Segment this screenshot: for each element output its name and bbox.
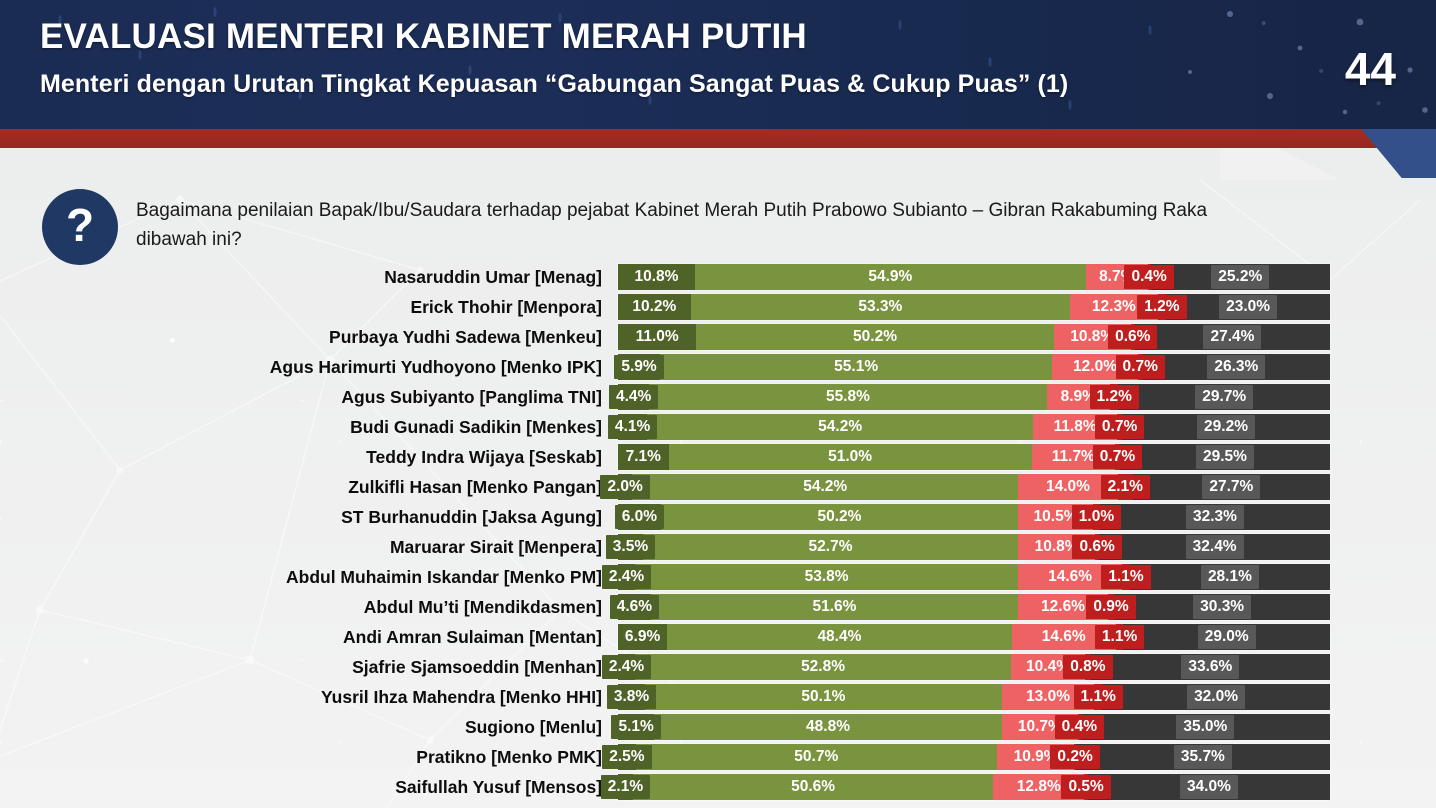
bar-segment-value: 0.8% bbox=[1063, 655, 1112, 679]
chart-row-label: Nasaruddin Umar [Menag] bbox=[150, 264, 602, 290]
bar-segment-tidak-tahu-tidak-jawab: 26.3% bbox=[1143, 354, 1330, 380]
chart-row-label: Teddy Indra Wijaya [Seskab] bbox=[150, 444, 602, 470]
bar-segment-value: 0.6% bbox=[1072, 535, 1121, 559]
bar-segment-value: 1.2% bbox=[1090, 385, 1139, 409]
chart-bar: 11.0%50.2%10.8%0.6%27.4% bbox=[618, 324, 1330, 350]
chart-row-label: Sjafrie Sjamsoeddin [Menhan] bbox=[150, 654, 602, 680]
question-mark-icon: ? bbox=[42, 189, 118, 265]
bar-segment-value: 0.7% bbox=[1095, 415, 1144, 439]
bar-segment-value: 0.4% bbox=[1124, 265, 1173, 289]
bar-segment-value: 0.4% bbox=[1055, 715, 1104, 739]
header-red-stripe bbox=[0, 129, 1436, 148]
bar-segment-sangat-puas: 2.1% bbox=[618, 774, 633, 800]
bar-segment-value: 28.1% bbox=[1201, 565, 1259, 589]
slide-number: 44 bbox=[1345, 42, 1396, 96]
chart-row-label: Agus Harimurti Yudhoyono [Menko IPK] bbox=[150, 354, 602, 380]
bar-segment-value: 0.2% bbox=[1050, 745, 1099, 769]
bar-segment-value: 1.1% bbox=[1074, 685, 1123, 709]
bar-segment-sangat-puas: 5.9% bbox=[618, 354, 660, 380]
chart-row-label: ST Burhanuddin [Jaksa Agung] bbox=[150, 504, 602, 530]
chart-row-label: Maruarar Sirait [Menpera] bbox=[150, 534, 602, 560]
bar-segment-value: 27.7% bbox=[1202, 475, 1260, 499]
chart-row: Abdul Mu’ti [Mendikdasmen]4.6%51.6%12.6%… bbox=[0, 592, 1436, 622]
bar-segment-tidak-tahu-tidak-jawab: 27.4% bbox=[1135, 324, 1330, 350]
bar-segment-value: 52.7% bbox=[802, 535, 860, 559]
bar-segment-tidak-tahu-tidak-jawab: 33.6% bbox=[1091, 654, 1330, 680]
chart-row-label: Yusril Ihza Mahendra [Menko HHI] bbox=[150, 684, 602, 710]
bar-segment-cukup-puas: 50.2% bbox=[661, 504, 1018, 530]
chart-bar: 2.4%53.8%14.6%1.1%28.1% bbox=[618, 564, 1330, 590]
bar-segment-tidak-tahu-tidak-jawab: 23.0% bbox=[1166, 294, 1330, 320]
bar-segment-value: 34.0% bbox=[1180, 775, 1238, 799]
bar-segment-value: 0.6% bbox=[1108, 325, 1157, 349]
bar-segment-value: 1.0% bbox=[1072, 505, 1121, 529]
bar-segment-tidak-puas-sama-sekali: 1.1% bbox=[1122, 564, 1130, 590]
bar-segment-value: 0.5% bbox=[1061, 775, 1110, 799]
bar-segment-tidak-puas-sama-sekali: 1.0% bbox=[1093, 504, 1100, 530]
bar-segment-value: 51.0% bbox=[821, 445, 879, 469]
bar-segment-sangat-puas: 3.5% bbox=[618, 534, 643, 560]
bar-segment-cukup-puas: 50.2% bbox=[696, 324, 1053, 350]
bar-segment-sangat-puas: 5.1% bbox=[618, 714, 654, 740]
bar-segment-value: 12.6% bbox=[1034, 595, 1092, 619]
bar-segment-sangat-puas: 2.4% bbox=[618, 654, 635, 680]
bar-segment-tidak-puas-sama-sekali: 1.1% bbox=[1094, 684, 1102, 710]
chart-row: Pratikno [Menko PMK]2.5%50.7%10.9%0.2%35… bbox=[0, 742, 1436, 772]
bar-segment-value: 4.6% bbox=[610, 595, 659, 619]
bar-segment-tidak-puas-sama-sekali: 2.1% bbox=[1118, 474, 1133, 500]
bar-segment-value: 10.2% bbox=[625, 295, 683, 319]
bar-segment-value: 29.2% bbox=[1197, 415, 1255, 439]
bar-segment-value: 50.2% bbox=[846, 325, 904, 349]
bar-segment-value: 10.8% bbox=[627, 265, 685, 289]
bar-segment-value: 12.3% bbox=[1085, 295, 1143, 319]
chart-row: Sjafrie Sjamsoeddin [Menhan]2.4%52.8%10.… bbox=[0, 652, 1436, 682]
bar-segment-value: 50.6% bbox=[784, 775, 842, 799]
bar-segment-value: 6.9% bbox=[618, 625, 667, 649]
bar-segment-sangat-puas: 2.5% bbox=[618, 744, 636, 770]
chart-row: Yusril Ihza Mahendra [Menko HHI]3.8%50.1… bbox=[0, 682, 1436, 712]
bar-segment-tidak-tahu-tidak-jawab: 29.5% bbox=[1120, 444, 1330, 470]
bar-segment-tidak-puas-sama-sekali: 0.2% bbox=[1074, 744, 1075, 770]
bar-segment-value: 6.0% bbox=[615, 505, 664, 529]
chart-row-label: Purbaya Yudhi Sadewa [Menkeu] bbox=[150, 324, 602, 350]
bar-segment-tidak-tahu-tidak-jawab: 32.3% bbox=[1100, 504, 1330, 530]
bar-segment-value: 54.2% bbox=[796, 475, 854, 499]
bar-segment-value: 7.1% bbox=[619, 445, 668, 469]
bar-segment-value: 50.1% bbox=[794, 685, 852, 709]
bar-segment-value: 3.8% bbox=[607, 685, 656, 709]
bar-segment-value: 29.7% bbox=[1195, 385, 1253, 409]
bar-segment-value: 35.7% bbox=[1174, 745, 1232, 769]
bar-segment-value: 2.1% bbox=[601, 775, 650, 799]
bar-segment-value: 51.6% bbox=[805, 595, 863, 619]
chart-bar: 6.0%50.2%10.5%1.0%32.3% bbox=[618, 504, 1330, 530]
bar-segment-value: 12.8% bbox=[1010, 775, 1068, 799]
bar-segment-value: 27.4% bbox=[1203, 325, 1261, 349]
bar-segment-tidak-puas-sama-sekali: 0.7% bbox=[1115, 444, 1120, 470]
bar-segment-cukup-puas: 53.8% bbox=[635, 564, 1018, 590]
bar-segment-value: 32.4% bbox=[1186, 535, 1244, 559]
bar-segment-value: 2.5% bbox=[602, 745, 651, 769]
chart-row-label: Erick Thohir [Menpora] bbox=[150, 294, 602, 320]
chart-bar: 10.2%53.3%12.3%1.2%23.0% bbox=[618, 294, 1330, 320]
chart-bar: 3.5%52.7%10.8%0.6%32.4% bbox=[618, 534, 1330, 560]
bar-segment-cukup-puas: 48.8% bbox=[654, 714, 1001, 740]
bar-segment-tidak-puas-sama-sekali: 0.5% bbox=[1084, 774, 1088, 800]
page-title: EVALUASI MENTERI KABINET MERAH PUTIH bbox=[40, 17, 807, 57]
bar-segment-value: 52.8% bbox=[794, 655, 852, 679]
bar-segment-value: 29.0% bbox=[1198, 625, 1256, 649]
bar-segment-sangat-puas: 10.8% bbox=[618, 264, 695, 290]
bar-segment-value: 48.8% bbox=[799, 715, 857, 739]
bar-segment-tidak-puas-sama-sekali: 0.7% bbox=[1138, 354, 1143, 380]
bar-segment-sangat-puas: 2.0% bbox=[618, 474, 632, 500]
bar-segment-value: 50.2% bbox=[810, 505, 868, 529]
bar-segment-value: 29.5% bbox=[1196, 445, 1254, 469]
stacked-bar-chart: Nasaruddin Umar [Menag]10.8%54.9%8.7%0.4… bbox=[0, 262, 1436, 808]
bar-segment-value: 32.0% bbox=[1187, 685, 1245, 709]
chart-row: ST Burhanuddin [Jaksa Agung]6.0%50.2%10.… bbox=[0, 502, 1436, 532]
bar-segment-sangat-puas: 6.9% bbox=[618, 624, 667, 650]
chart-row: Zulkifli Hasan [Menko Pangan]2.0%54.2%14… bbox=[0, 472, 1436, 502]
chart-row-label: Budi Gunadi Sadikin [Menkes] bbox=[150, 414, 602, 440]
bar-segment-tidak-tahu-tidak-jawab: 30.3% bbox=[1114, 594, 1330, 620]
bar-segment-value: 55.8% bbox=[819, 385, 877, 409]
bar-segment-tidak-puas-sama-sekali: 0.7% bbox=[1117, 414, 1122, 440]
bar-segment-value: 2.0% bbox=[600, 475, 649, 499]
bar-segment-tidak-puas-sama-sekali: 1.2% bbox=[1110, 384, 1119, 410]
bar-segment-cukup-puas: 50.6% bbox=[633, 774, 993, 800]
bar-segment-tidak-tahu-tidak-jawab: 32.0% bbox=[1102, 684, 1330, 710]
bar-segment-cukup-puas: 55.1% bbox=[660, 354, 1052, 380]
chart-row-label: Abdul Muhaimin Iskandar [Menko PM] bbox=[150, 564, 602, 590]
bar-segment-value: 54.2% bbox=[811, 415, 869, 439]
bar-segment-cukup-puas: 48.4% bbox=[667, 624, 1012, 650]
bar-segment-value: 1.1% bbox=[1101, 565, 1150, 589]
bar-segment-cukup-puas: 51.6% bbox=[651, 594, 1018, 620]
bar-segment-value: 14.0% bbox=[1039, 475, 1097, 499]
bar-segment-tidak-puas-sama-sekali: 1.2% bbox=[1158, 294, 1167, 320]
bar-segment-cukup-puas: 54.2% bbox=[632, 474, 1018, 500]
chart-row: Abdul Muhaimin Iskandar [Menko PM]2.4%53… bbox=[0, 562, 1436, 592]
bar-segment-value: 13.0% bbox=[1019, 685, 1077, 709]
bar-segment-tidak-tahu-tidak-jawab: 29.7% bbox=[1118, 384, 1329, 410]
bar-segment-tidak-tahu-tidak-jawab: 27.7% bbox=[1133, 474, 1330, 500]
bar-segment-tidak-puas-sama-sekali: 0.6% bbox=[1131, 324, 1135, 350]
bar-segment-cukup-puas: 55.8% bbox=[649, 384, 1046, 410]
bar-segment-sangat-puas: 10.2% bbox=[618, 294, 691, 320]
bar-segment-tidak-puas-sama-sekali: 0.9% bbox=[1108, 594, 1114, 620]
bar-segment-cukup-puas: 52.8% bbox=[635, 654, 1011, 680]
chart-row: Erick Thohir [Menpora]10.2%53.3%12.3%1.2… bbox=[0, 292, 1436, 322]
bar-segment-cukup-puas: 51.0% bbox=[669, 444, 1032, 470]
chart-bar: 5.1%48.8%10.7%0.4%35.0% bbox=[618, 714, 1330, 740]
bar-segment-value: 54.9% bbox=[861, 265, 919, 289]
bar-segment-value: 0.9% bbox=[1086, 595, 1135, 619]
bar-segment-cukup-puas: 54.9% bbox=[695, 264, 1086, 290]
bar-segment-sangat-puas: 4.6% bbox=[618, 594, 651, 620]
chart-bar: 4.4%55.8%8.9%1.2%29.7% bbox=[618, 384, 1330, 410]
bar-segment-value: 55.1% bbox=[827, 355, 885, 379]
bar-segment-value: 0.7% bbox=[1116, 355, 1165, 379]
bar-segment-value: 26.3% bbox=[1207, 355, 1265, 379]
bar-segment-value: 2.4% bbox=[602, 565, 651, 589]
bar-segment-tidak-puas-sama-sekali: 1.1% bbox=[1116, 624, 1124, 650]
chart-row: Teddy Indra Wijaya [Seskab]7.1%51.0%11.7… bbox=[0, 442, 1436, 472]
chart-row: Andi Amran Sulaiman [Mentan]6.9%48.4%14.… bbox=[0, 622, 1436, 652]
slide-header: EVALUASI MENTERI KABINET MERAH PUTIH Men… bbox=[0, 0, 1436, 129]
bar-segment-tidak-tahu-tidak-jawab: 25.2% bbox=[1151, 264, 1330, 290]
chart-row-label: Zulkifli Hasan [Menko Pangan] bbox=[150, 474, 602, 500]
chart-row: Nasaruddin Umar [Menag]10.8%54.9%8.7%0.4… bbox=[0, 262, 1436, 292]
chart-bar: 2.5%50.7%10.9%0.2%35.7% bbox=[618, 744, 1330, 770]
bar-segment-tidak-tahu-tidak-jawab: 34.0% bbox=[1088, 774, 1330, 800]
bar-segment-value: 53.8% bbox=[798, 565, 856, 589]
bar-segment-value: 5.1% bbox=[611, 715, 660, 739]
question-text: Bagaimana penilaian Bapak/Ibu/Saudara te… bbox=[136, 196, 1216, 255]
bar-segment-tidak-tahu-tidak-jawab: 29.2% bbox=[1122, 414, 1330, 440]
bar-segment-value: 33.6% bbox=[1181, 655, 1239, 679]
bar-segment-cukup-puas: 53.3% bbox=[691, 294, 1070, 320]
bar-segment-tidak-puas-sama-sekali: 0.4% bbox=[1148, 264, 1151, 290]
bar-segment-sangat-puas: 6.0% bbox=[618, 504, 661, 530]
bar-segment-value: 11.0% bbox=[629, 325, 686, 349]
bar-segment-sangat-puas: 3.8% bbox=[618, 684, 645, 710]
chart-bar: 2.4%52.8%10.4%0.8%33.6% bbox=[618, 654, 1330, 680]
bar-segment-tidak-puas-sama-sekali: 0.8% bbox=[1085, 654, 1091, 680]
chart-row-label: Pratikno [Menko PMK] bbox=[150, 744, 602, 770]
bar-segment-cukup-puas: 50.7% bbox=[636, 744, 997, 770]
bar-segment-value: 25.2% bbox=[1211, 265, 1269, 289]
bar-segment-value: 53.3% bbox=[851, 295, 909, 319]
chart-bar: 4.1%54.2%11.8%0.7%29.2% bbox=[618, 414, 1330, 440]
bar-segment-sangat-puas: 4.1% bbox=[618, 414, 647, 440]
chart-row: Agus Subiyanto [Panglima TNI]4.4%55.8%8.… bbox=[0, 382, 1436, 412]
bar-segment-value: 1.2% bbox=[1137, 295, 1186, 319]
chart-bar: 5.9%55.1%12.0%0.7%26.3% bbox=[618, 354, 1330, 380]
bar-segment-value: 5.9% bbox=[614, 355, 663, 379]
bar-segment-value: 32.3% bbox=[1186, 505, 1244, 529]
chart-row: Saifullah Yusuf [Mensos]2.1%50.6%12.8%0.… bbox=[0, 772, 1436, 802]
bar-segment-tidak-tahu-tidak-jawab: 28.1% bbox=[1130, 564, 1330, 590]
bar-segment-cukup-puas: 52.7% bbox=[643, 534, 1018, 560]
bar-segment-value: 14.6% bbox=[1041, 565, 1099, 589]
page-subtitle: Menteri dengan Urutan Tingkat Kepuasan “… bbox=[40, 70, 1068, 99]
bar-segment-value: 2.1% bbox=[1101, 475, 1150, 499]
chart-row: Purbaya Yudhi Sadewa [Menkeu]11.0%50.2%1… bbox=[0, 322, 1436, 352]
chart-row-label: Sugiono [Menlu] bbox=[150, 714, 602, 740]
bar-segment-tidak-tahu-tidak-jawab: 29.0% bbox=[1123, 624, 1329, 650]
chart-row: Agus Harimurti Yudhoyono [Menko IPK]5.9%… bbox=[0, 352, 1436, 382]
chart-row: Budi Gunadi Sadikin [Menkes]4.1%54.2%11.… bbox=[0, 412, 1436, 442]
bar-segment-value: 14.6% bbox=[1035, 625, 1093, 649]
bar-segment-cukup-puas: 54.2% bbox=[647, 414, 1033, 440]
bar-segment-value: 30.3% bbox=[1193, 595, 1251, 619]
bar-segment-cukup-puas: 50.1% bbox=[645, 684, 1002, 710]
bar-segment-value: 0.7% bbox=[1093, 445, 1142, 469]
chart-bar: 7.1%51.0%11.7%0.7%29.5% bbox=[618, 444, 1330, 470]
bar-segment-tidak-tahu-tidak-jawab: 32.4% bbox=[1099, 534, 1330, 560]
bar-segment-sangat-puas: 7.1% bbox=[618, 444, 669, 470]
chart-bar: 10.8%54.9%8.7%0.4%25.2% bbox=[618, 264, 1330, 290]
bar-segment-tidak-puas-sama-sekali: 0.6% bbox=[1095, 534, 1099, 560]
bar-segment-tidak-tahu-tidak-jawab: 35.0% bbox=[1081, 714, 1330, 740]
chart-row: Maruarar Sirait [Menpera]3.5%52.7%10.8%0… bbox=[0, 532, 1436, 562]
bar-segment-value: 23.0% bbox=[1219, 295, 1277, 319]
bar-segment-value: 35.0% bbox=[1176, 715, 1234, 739]
bar-segment-tidak-tahu-tidak-jawab: 35.7% bbox=[1076, 744, 1330, 770]
bar-segment-sangat-puas: 11.0% bbox=[618, 324, 696, 350]
bar-segment-value: 1.1% bbox=[1095, 625, 1144, 649]
bar-segment-sangat-puas: 2.4% bbox=[618, 564, 635, 590]
chart-row-label: Agus Subiyanto [Panglima TNI] bbox=[150, 384, 602, 410]
bar-segment-tidak-puas-sama-sekali: 0.4% bbox=[1078, 714, 1081, 740]
chart-bar: 3.8%50.1%13.0%1.1%32.0% bbox=[618, 684, 1330, 710]
bar-segment-value: 4.1% bbox=[608, 415, 657, 439]
chart-row: Sugiono [Menlu]5.1%48.8%10.7%0.4%35.0% bbox=[0, 712, 1436, 742]
bar-segment-value: 48.4% bbox=[810, 625, 868, 649]
chart-bar: 4.6%51.6%12.6%0.9%30.3% bbox=[618, 594, 1330, 620]
chart-bar: 6.9%48.4%14.6%1.1%29.0% bbox=[618, 624, 1330, 650]
chart-row-label: Abdul Mu’ti [Mendikdasmen] bbox=[150, 594, 602, 620]
bar-segment-sangat-puas: 4.4% bbox=[618, 384, 649, 410]
bar-segment-value: 3.5% bbox=[606, 535, 655, 559]
chart-row-label: Andi Amran Sulaiman [Mentan] bbox=[150, 624, 602, 650]
bar-segment-value: 4.4% bbox=[609, 385, 658, 409]
chart-bar: 2.1%50.6%12.8%0.5%34.0% bbox=[618, 774, 1330, 800]
chart-row-label: Saifullah Yusuf [Mensos] bbox=[150, 774, 602, 800]
slide-root: EVALUASI MENTERI KABINET MERAH PUTIH Men… bbox=[0, 0, 1436, 808]
bar-segment-value: 2.4% bbox=[602, 655, 651, 679]
bar-segment-value: 50.7% bbox=[787, 745, 845, 769]
chart-bar: 2.0%54.2%14.0%2.1%27.7% bbox=[618, 474, 1330, 500]
